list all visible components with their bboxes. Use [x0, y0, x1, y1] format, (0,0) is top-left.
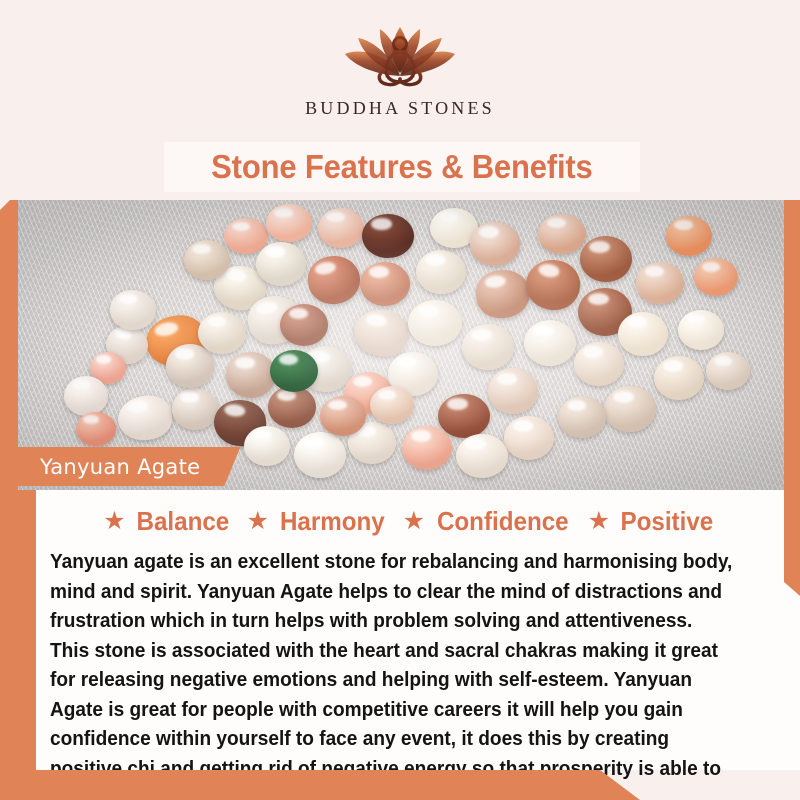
- accent-border-left-photo: [0, 200, 18, 490]
- benefit-label: Harmony: [280, 506, 385, 537]
- stone-name: Yanyuan Agate: [40, 455, 200, 479]
- star-icon: ★: [588, 509, 610, 534]
- accent-border-left-body: [0, 490, 36, 770]
- benefit-label: Positive: [620, 506, 713, 537]
- benefit-item: ★Balance: [103, 506, 232, 537]
- benefit-item: ★Harmony: [246, 506, 388, 537]
- benefits-list: ★Balance★Harmony★Confidence★Positive: [36, 506, 784, 537]
- benefit-item: ★Confidence: [403, 506, 574, 537]
- accent-border-right-photo: [784, 200, 800, 490]
- benefit-label: Balance: [136, 506, 229, 537]
- infographic-page: BUDDHA STONES Stone Features & Benefits …: [0, 0, 800, 800]
- star-icon: ★: [103, 509, 125, 534]
- benefit-item: ★Positive: [588, 506, 717, 537]
- stone-name-banner: Yanyuan Agate: [18, 447, 240, 486]
- star-icon: ★: [403, 509, 425, 534]
- photo-vignette: [18, 200, 784, 490]
- lotus-meditation-icon: [325, 16, 475, 96]
- product-photo-section: [0, 200, 800, 490]
- brand-name: BUDDHA STONES: [0, 98, 800, 119]
- description-section: ★Balance★Harmony★Confidence★Positive Yan…: [0, 490, 800, 770]
- description-text: Yanyuan agate is an excellent stone for …: [50, 548, 736, 800]
- brand-logo: BUDDHA STONES: [0, 16, 800, 119]
- stones-photo: [18, 200, 784, 490]
- benefit-label: Confidence: [437, 506, 569, 537]
- section-title-band: Stone Features & Benefits: [164, 142, 640, 192]
- footer-accent-band: [0, 770, 640, 800]
- header: BUDDHA STONES Stone Features & Benefits: [0, 0, 800, 200]
- page-title: Stone Features & Benefits: [211, 148, 592, 186]
- accent-border-right-body: [784, 490, 800, 596]
- star-icon: ★: [246, 509, 268, 534]
